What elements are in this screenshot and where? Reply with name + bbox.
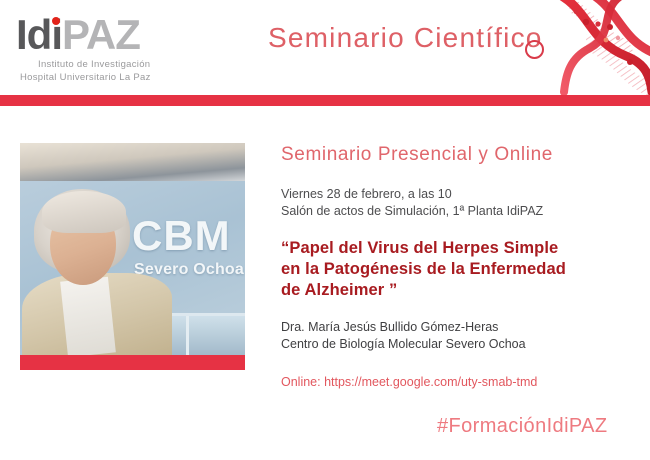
talk-title-line-2: en la Patogénesis de la Enfermedad xyxy=(281,259,641,280)
talk-title-line-3: de Alzheimer ” xyxy=(281,280,641,301)
logo-subtitle-line1: Instituto de Investigación xyxy=(38,59,196,72)
photo-accent-bar xyxy=(20,355,245,370)
talk-title: “Papel del Virus del Herpes Simple en la… xyxy=(281,238,641,301)
photo-person-hair-front xyxy=(42,191,126,233)
speaker-photo: CBM Severo Ochoa xyxy=(20,143,245,355)
page-title: Seminario Científico xyxy=(268,22,543,54)
logo-subtitle-line2: Hospital Universitario La Paz xyxy=(20,72,196,85)
speaker-affiliation: Centro de Biología Molecular Severo Ocho… xyxy=(281,336,641,353)
event-venue: Salón de actos de Simulación, 1ª Planta … xyxy=(281,203,641,220)
poster-content: Seminario Presencial y Online Viernes 28… xyxy=(281,143,641,390)
idipaz-logo: IdiPAZ Instituto de Investigación Hospit… xyxy=(16,13,196,84)
poster-header: IdiPAZ Instituto de Investigación Hospit… xyxy=(0,0,650,95)
dna-helix-icon xyxy=(520,0,650,95)
small-circle-icon xyxy=(525,40,544,59)
photo-ceiling xyxy=(20,143,245,185)
seminar-poster: IdiPAZ Instituto de Investigación Hospit… xyxy=(0,0,650,460)
speaker-info: Dra. María Jesús Bullido Gómez-Heras Cen… xyxy=(281,319,641,353)
logo-wordmark: IdiPAZ xyxy=(16,13,196,57)
online-link[interactable]: Online: https://meet.google.com/uty-smab… xyxy=(281,374,641,390)
event-format-subhead: Seminario Presencial y Online xyxy=(281,143,641,167)
event-date: Viernes 28 de febrero, a las 10 xyxy=(281,186,641,203)
photo-window-divider xyxy=(186,316,189,355)
talk-title-line-1: “Papel del Virus del Herpes Simple xyxy=(281,238,641,259)
photo-sign-cbm: CBM xyxy=(132,215,231,257)
logo-dot-icon xyxy=(52,17,60,25)
photo-person-shirt xyxy=(60,277,116,355)
logo-text-paz: PAZ xyxy=(62,11,140,58)
header-divider xyxy=(0,95,650,106)
hashtag: #FormaciónIdiPAZ xyxy=(437,415,608,438)
event-meta: Viernes 28 de febrero, a las 10 Salón de… xyxy=(281,186,641,220)
photo-scene: CBM Severo Ochoa xyxy=(20,143,245,355)
speaker-name: Dra. María Jesús Bullido Gómez-Heras xyxy=(281,319,641,336)
